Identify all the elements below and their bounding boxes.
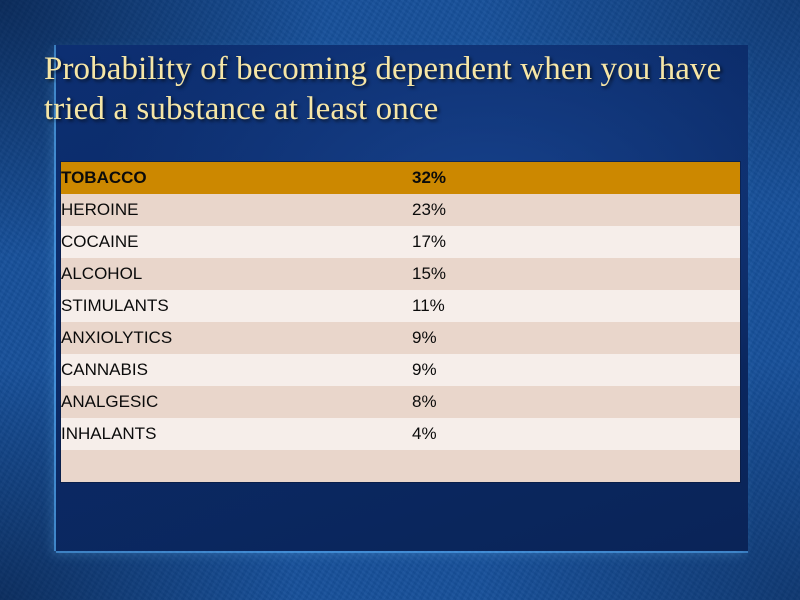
table-row: STIMULANTS11% <box>61 290 740 322</box>
table-body: TOBACCO32%HEROINE23%COCAINE17%ALCOHOL15%… <box>61 162 740 482</box>
probability-value-cell: 4% <box>412 418 740 450</box>
table-empty-row <box>61 450 740 482</box>
slide-title: Probability of becoming dependent when y… <box>44 49 744 130</box>
probability-value-cell <box>412 450 740 482</box>
substance-name-cell: INHALANTS <box>61 418 412 450</box>
probability-value-cell: 15% <box>412 258 740 290</box>
table-row: ALCOHOL15% <box>61 258 740 290</box>
substance-name-cell: STIMULANTS <box>61 290 412 322</box>
table-row: ANXIOLYTICS9% <box>61 322 740 354</box>
table-row: INHALANTS4% <box>61 418 740 450</box>
probability-value-cell: 11% <box>412 290 740 322</box>
probability-value-cell: 23% <box>412 194 740 226</box>
table-header-row: TOBACCO32% <box>61 162 740 194</box>
substance-name-cell: ALCOHOL <box>61 258 412 290</box>
substance-name-cell: TOBACCO <box>61 162 412 194</box>
probability-value-cell: 32% <box>412 162 740 194</box>
probability-value-cell: 8% <box>412 386 740 418</box>
table-row: CANNABIS9% <box>61 354 740 386</box>
substance-name-cell: HEROINE <box>61 194 412 226</box>
table-row: COCAINE17% <box>61 226 740 258</box>
substance-name-cell: ANALGESIC <box>61 386 412 418</box>
substance-name-cell: CANNABIS <box>61 354 412 386</box>
probability-value-cell: 17% <box>412 226 740 258</box>
table-row: HEROINE23% <box>61 194 740 226</box>
probability-value-cell: 9% <box>412 354 740 386</box>
substance-name-cell: COCAINE <box>61 226 412 258</box>
substance-name-cell: ANXIOLYTICS <box>61 322 412 354</box>
table-row: ANALGESIC8% <box>61 386 740 418</box>
substance-dependence-table: TOBACCO32%HEROINE23%COCAINE17%ALCOHOL15%… <box>61 162 740 482</box>
probability-value-cell: 9% <box>412 322 740 354</box>
substance-name-cell <box>61 450 412 482</box>
